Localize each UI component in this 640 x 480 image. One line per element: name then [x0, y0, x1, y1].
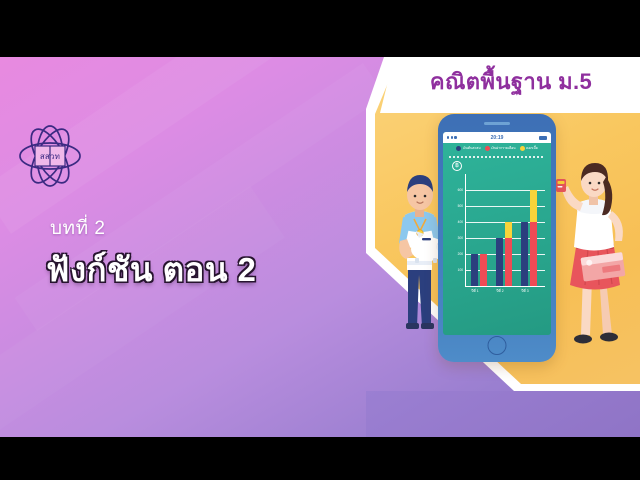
- phone-status-bar: 20:19: [443, 132, 551, 143]
- status-time: 20:19: [443, 135, 551, 141]
- phone-speaker: [484, 122, 510, 125]
- y-tick-label: 600: [451, 188, 463, 192]
- header-title: คณิตพื้นฐาน ม.5: [396, 64, 626, 99]
- legend-item[interactable]: เงินฝากรายเดือน: [485, 146, 516, 151]
- legend-label: เงินฝากรายเดือน: [491, 146, 516, 151]
- legend-swatch: [456, 146, 461, 151]
- bar-group[interactable]: [496, 222, 512, 286]
- legend-label: ดอกเบี้ย: [526, 146, 538, 151]
- bar-segment-red: [530, 222, 537, 286]
- bar-navy[interactable]: [521, 222, 528, 286]
- legend-item[interactable]: เงินต้นสะสม: [456, 146, 480, 151]
- legend-label: เงินต้นสะสม: [463, 146, 481, 151]
- logo-wordmark: สสวท: [40, 152, 60, 161]
- y-tick-label: 400: [451, 220, 463, 224]
- bar-segment-red: [505, 238, 512, 286]
- bar-segment-yellow: [530, 190, 537, 222]
- bar-navy[interactable]: [471, 254, 478, 286]
- slide-background: สสวท บทที่ 2 ฟังก์ชัน ตอน 2: [0, 57, 640, 437]
- slide-canvas: สสวท บทที่ 2 ฟังก์ชัน ตอน 2: [0, 0, 640, 480]
- legend-swatch: [485, 146, 490, 151]
- letterbox-top: [0, 0, 640, 57]
- background-sheen-band: [15, 63, 386, 331]
- bar-navy[interactable]: [496, 238, 503, 286]
- x-tick-label: ปีที่ 3: [512, 289, 538, 294]
- bar-segment-yellow: [505, 222, 512, 238]
- woman-with-credit-card: [554, 155, 632, 351]
- chart-x-axis: [465, 286, 545, 287]
- x-tick-label: ปีที่ 2: [487, 289, 513, 294]
- bar-red-yellow-stack[interactable]: [530, 190, 537, 286]
- legend-divider: [449, 156, 545, 158]
- chart-legend: เงินต้นสะสม เงินฝากรายเดือน ดอกเบี้ย: [443, 146, 551, 151]
- illustration-panel: 20:19 เงินต้นสะสม เงินฝากรายเดือน: [366, 57, 640, 437]
- phone-home-button[interactable]: [488, 336, 507, 355]
- phone-screen: 20:19 เงินต้นสะสม เงินฝากรายเดือน: [443, 132, 551, 335]
- letterbox-bottom: [0, 437, 640, 480]
- legend-item[interactable]: ดอกเบี้ย: [520, 146, 538, 151]
- battery-icon: [539, 136, 547, 140]
- ipst-atom-logo: สสวท: [14, 120, 86, 192]
- y-tick-label: 500: [451, 204, 463, 208]
- y-tick-label: 200: [451, 252, 463, 256]
- y-tick-label: 300: [451, 236, 463, 240]
- bar-chart: 100 200 300 400 500 600 ปีที่ 1: [451, 174, 545, 302]
- background-sheen-band: [0, 186, 285, 437]
- legend-swatch: [520, 146, 525, 151]
- lesson-title: ฟังก์ชัน ตอน 2: [46, 251, 256, 289]
- x-tick-label: ปีที่ 1: [462, 289, 488, 294]
- currency-badge: ฿: [452, 161, 462, 171]
- bar-red[interactable]: [480, 254, 487, 286]
- y-tick-label: 100: [451, 268, 463, 272]
- chapter-label: บทที่ 2: [50, 213, 105, 243]
- bar-group[interactable]: [521, 190, 537, 286]
- smartphone-chart-mockup[interactable]: 20:19 เงินต้นสะสม เงินฝากรายเดือน: [438, 114, 556, 362]
- bar-group[interactable]: [471, 254, 487, 286]
- bar-red-yellow-stack[interactable]: [505, 222, 512, 286]
